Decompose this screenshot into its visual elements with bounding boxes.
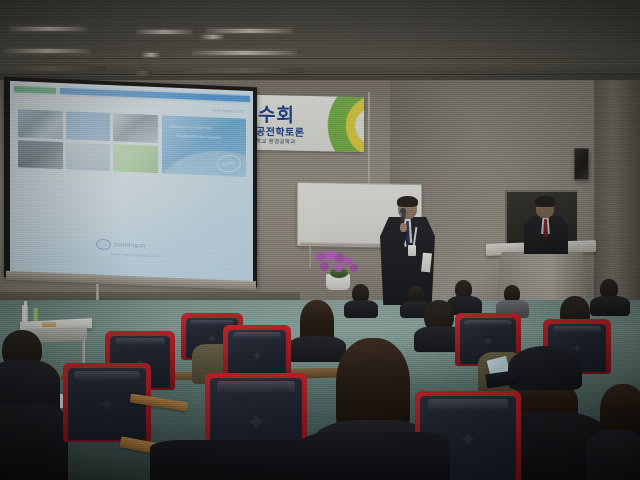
- podium-speaker-hair: [535, 196, 555, 207]
- slide-content: www.kapec.com Delivering Your Value Now …: [10, 81, 253, 282]
- fluorescent-light-fixture: [10, 27, 88, 31]
- fluorescent-light-fixture: [207, 29, 293, 33]
- seat-star-emblem: ✦: [251, 348, 263, 365]
- presenter-hand: [400, 223, 407, 232]
- event-banner: 수회 공전학토론 학교 환경공학과: [252, 95, 364, 152]
- slide-tagline-1: Delivering Your Value Now: [169, 125, 239, 133]
- banner-subtitle: 학교 환경공학과: [256, 137, 296, 146]
- fluorescent-light-fixture: [185, 68, 305, 73]
- standing-presenter: [378, 197, 438, 305]
- seat-highlight: [553, 326, 602, 333]
- microphone-capsule-icon: [400, 208, 406, 214]
- seat-star-emblem: ✦: [99, 393, 116, 418]
- slide-thumbnail: [66, 111, 111, 140]
- seat-highlight: [74, 371, 140, 381]
- slide-thumbnail: [66, 142, 111, 171]
- audience-foreground-silhouette: [150, 440, 320, 480]
- snack-plate: [42, 322, 56, 327]
- orchid-bloom: [320, 262, 329, 271]
- slide-footer: 한국전력기술(주): [96, 239, 145, 252]
- audience-shoulders: [344, 300, 378, 318]
- audience-torso: [0, 404, 68, 480]
- seat-highlight: [115, 338, 165, 345]
- slide-thumbnail: [113, 144, 158, 173]
- water-bottle: [22, 305, 28, 323]
- photo-scene: 수회 공전학토론 학교 환경공학과 www.kapec.com Deliveri…: [0, 0, 640, 480]
- wall-column: [596, 80, 640, 310]
- slide-thumbnail-grid: [18, 109, 158, 173]
- ceiling-texture: [0, 0, 640, 84]
- wall-mounted-loudspeaker: [574, 148, 589, 180]
- audience-foreground-silhouette: [300, 432, 450, 480]
- ceiling-seam: [0, 58, 640, 59]
- slide-thumbnail: [18, 140, 63, 169]
- ceiling-seam: [0, 74, 640, 75]
- slide-blue-panel: Delivering Your Value Now Creating With …: [162, 115, 246, 177]
- company-logo-icon: [96, 239, 111, 251]
- slide-thumbnail: [18, 109, 63, 138]
- slide-accent-bar-blue: [60, 88, 250, 102]
- fluorescent-light-fixture: [4, 49, 92, 53]
- presenter-hair: [397, 196, 418, 207]
- slide-footer-company-sub: KOREA POWER ENGINEERING CO., INC.: [111, 253, 161, 258]
- seat-star-emblem: ✦: [459, 427, 477, 453]
- name-badge: [408, 245, 416, 256]
- audience-shoulders: [590, 296, 630, 316]
- slide-thumbnail: [113, 113, 158, 142]
- audience-shoulders: [288, 336, 346, 362]
- podium-speaker: [524, 196, 568, 254]
- audience-shoulders: [586, 430, 640, 480]
- fluorescent-light-fixture: [142, 53, 160, 57]
- slide-footer-sub: KOREA POWER ENGINEERING CO., INC.: [111, 253, 161, 258]
- seat-star-emblem: ✦: [246, 408, 266, 437]
- projection-screen: www.kapec.com Delivering Your Value Now …: [10, 81, 253, 282]
- seat-highlight: [428, 399, 509, 411]
- slide-footer-company: 한국전력기술(주): [114, 242, 145, 249]
- fluorescent-light-fixture: [137, 30, 193, 34]
- black-baseball-cap: [508, 346, 582, 390]
- seat-highlight: [217, 381, 294, 393]
- orchid-bloom: [334, 263, 343, 272]
- slide-accent-bar-green: [14, 86, 56, 94]
- ceiling: [0, 0, 640, 84]
- slide-url-text: www.kapec.com: [212, 107, 244, 113]
- fluorescent-light-fixture: [192, 51, 298, 55]
- seat-highlight: [233, 332, 282, 339]
- seat-star-emblem: ✦: [482, 333, 494, 350]
- fluorescent-light-fixture: [202, 35, 224, 39]
- seat-highlight: [464, 320, 511, 326]
- fluorescent-light-fixture: [0, 66, 106, 71]
- auditorium-seat[interactable]: ✦: [68, 368, 146, 440]
- orchid-bloom: [350, 264, 358, 272]
- slide-tagline-2: Creating With Your Success: [176, 134, 246, 142]
- seat-back: ✦: [68, 368, 146, 440]
- fluorescent-light-fixture: [135, 71, 151, 76]
